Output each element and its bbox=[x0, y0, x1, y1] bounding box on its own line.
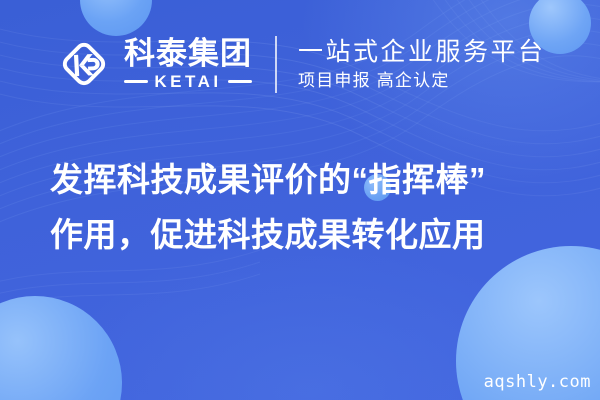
brand-lockup[interactable]: 科泰集团 KETAI bbox=[56, 36, 252, 92]
tagline-primary: 一站式企业服务平台 bbox=[298, 38, 546, 67]
brand-name-cn: 科泰集团 bbox=[124, 38, 252, 71]
brand-dash-right bbox=[228, 80, 252, 83]
banner-header: 科泰集团 KETAI 一站式企业服务平台 项目申报 高企认定 bbox=[0, 0, 600, 128]
brand-name-en-row: KETAI bbox=[124, 73, 252, 90]
brand-dash-left bbox=[124, 80, 148, 83]
headline-line-1: 发挥科技成果评价的“指挥棒” bbox=[50, 152, 560, 207]
decorative-circle-bottom-left bbox=[0, 296, 122, 400]
watermark-url: aqshly.com bbox=[484, 372, 591, 392]
brand-text: 科泰集团 KETAI bbox=[124, 38, 252, 90]
headline-block: 发挥科技成果评价的“指挥棒” 作用，促进科技成果转化应用 bbox=[50, 152, 560, 262]
header-divider bbox=[275, 36, 277, 93]
header-tagline: 一站式企业服务平台 项目申报 高企认定 bbox=[298, 38, 546, 90]
promo-banner: 科泰集团 KETAI 一站式企业服务平台 项目申报 高企认定 发挥科技成果评价的… bbox=[0, 0, 600, 400]
ketai-kp-diamond-logo-icon bbox=[56, 36, 112, 92]
headline-line-2: 作用，促进科技成果转化应用 bbox=[50, 207, 560, 262]
brand-name-en: KETAI bbox=[154, 73, 221, 90]
tagline-secondary: 项目申报 高企认定 bbox=[298, 71, 546, 91]
